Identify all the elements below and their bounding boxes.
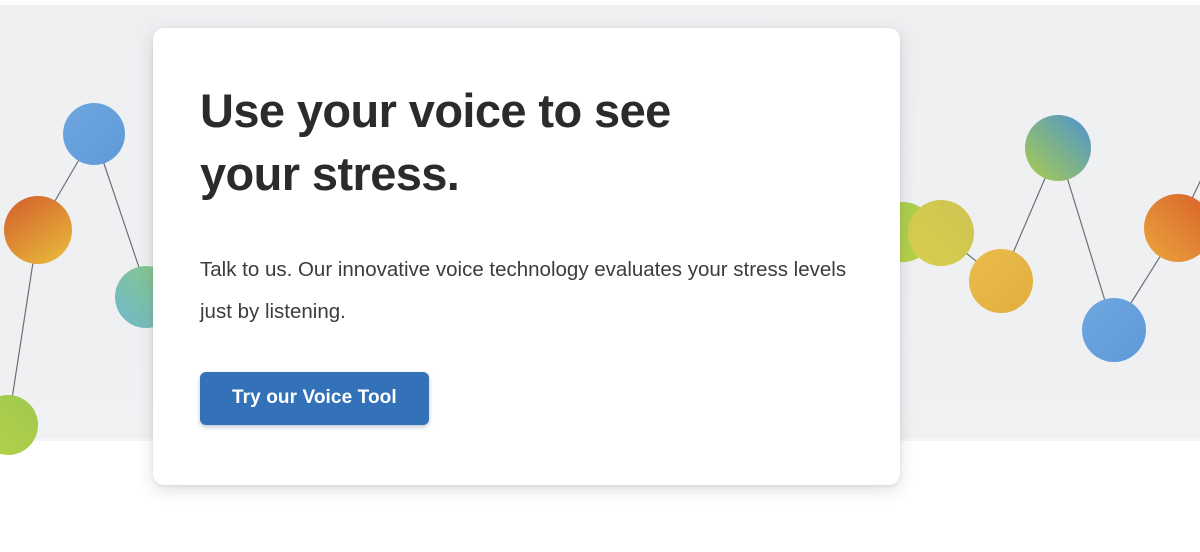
hero-band-top-edge — [0, 0, 1200, 5]
hero-subtitle: Talk to us. Our innovative voice technol… — [200, 249, 852, 334]
hero-section: Use your voice to see your stress. Talk … — [0, 0, 1200, 552]
page-title: Use your voice to see your stress. — [200, 80, 780, 205]
try-voice-tool-button[interactable]: Try our Voice Tool — [200, 372, 429, 425]
hero-card: Use your voice to see your stress. Talk … — [153, 28, 900, 485]
